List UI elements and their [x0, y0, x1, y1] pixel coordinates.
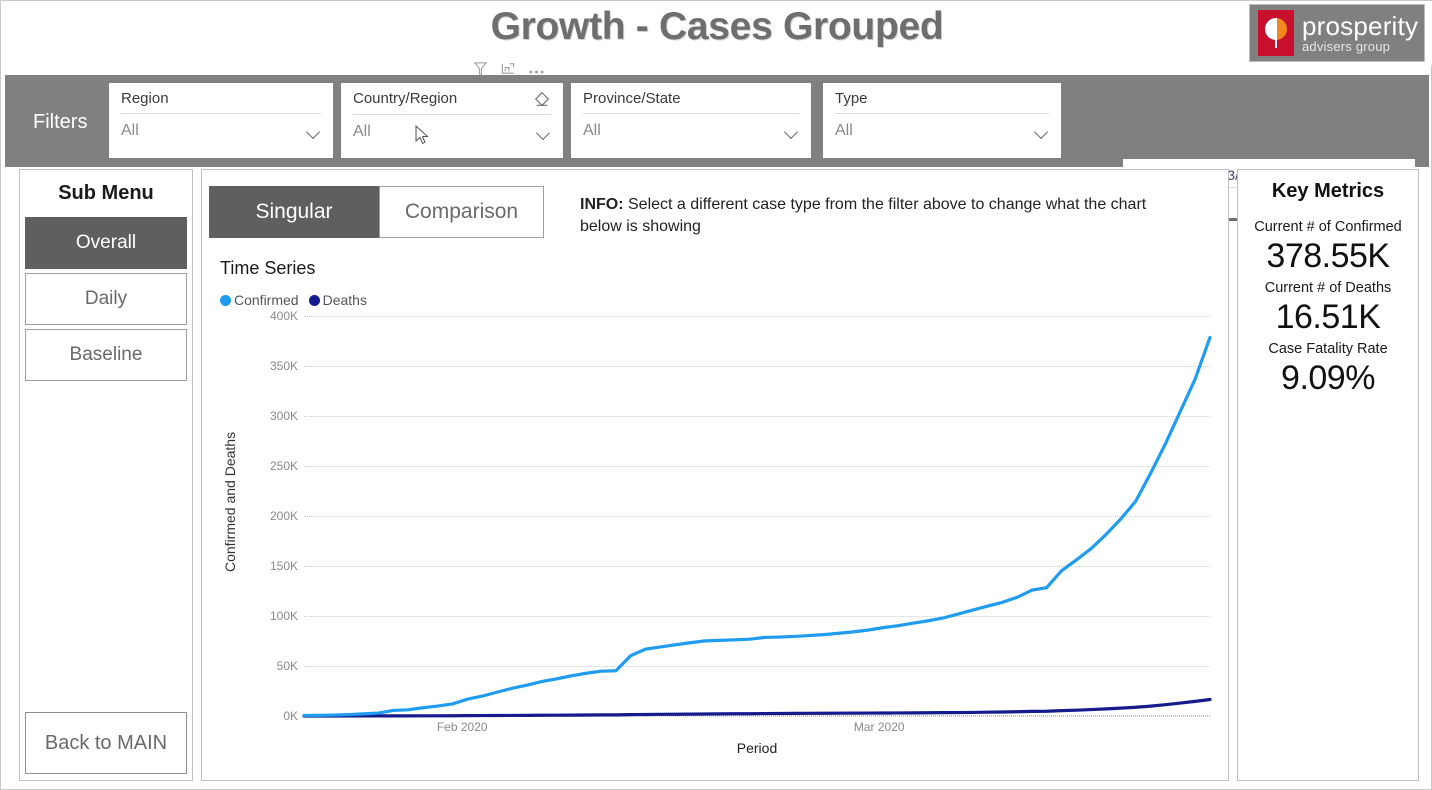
more-options-icon[interactable] [528, 62, 545, 80]
slicer-country-value: All [353, 123, 371, 141]
series-line-deaths[interactable] [304, 699, 1210, 715]
chart-title: Time Series [220, 258, 315, 279]
slicer-country-label: Country/Region [353, 90, 457, 107]
legend-swatch-deaths [309, 295, 320, 306]
logo-secondary-text: advisers group [1302, 40, 1418, 53]
y-tick-label: 400K [242, 309, 298, 323]
info-prefix: INFO: [580, 196, 624, 213]
tab-singular[interactable]: Singular [209, 186, 379, 238]
focus-mode-icon[interactable] [500, 61, 516, 81]
view-tab-group: Singular Comparison [209, 186, 544, 238]
sidebar-item-baseline[interactable]: Baseline [25, 329, 187, 381]
legend-label-confirmed: Confirmed [234, 292, 299, 308]
main-visual-panel: Singular Comparison INFO: Select a diffe… [201, 169, 1229, 781]
metric-label-cfr: Case Fatality Rate [1238, 341, 1418, 357]
slicer-type[interactable]: Type All [823, 83, 1061, 158]
logo-primary-text: prosperity [1302, 13, 1418, 39]
report-page: Growth - Cases Grouped prosperity advise… [0, 0, 1432, 790]
brand-logo: prosperity advisers group [1249, 4, 1425, 62]
sub-menu-panel: Sub Menu Overall Daily Baseline Back to … [19, 169, 193, 781]
slicer-type-label: Type [835, 90, 868, 107]
y-tick-label: 300K [242, 409, 298, 423]
metric-label-deaths: Current # of Deaths [1238, 280, 1418, 296]
metric-label-confirmed: Current # of Confirmed [1238, 219, 1418, 235]
x-tick-label: Feb 2020 [437, 720, 488, 734]
y-tick-label: 0K [242, 709, 298, 723]
filter-bar: Filters Region All Country/Region All [5, 75, 1429, 167]
slicer-region[interactable]: Region All [109, 83, 333, 158]
x-tick-label: Mar 2020 [854, 720, 905, 734]
chevron-down-icon[interactable] [1035, 127, 1049, 135]
slicer-province-state[interactable]: Province/State All [571, 83, 811, 158]
sub-menu-title: Sub Menu [25, 176, 187, 217]
report-header: Growth - Cases Grouped prosperity advise… [1, 1, 1432, 65]
chart-legend[interactable]: Confirmed Deaths [220, 292, 367, 308]
chevron-down-icon[interactable] [785, 127, 799, 135]
slicer-province-value: All [583, 122, 601, 140]
key-metrics-title: Key Metrics [1238, 180, 1418, 203]
info-message: INFO: Select a different case type from … [580, 194, 1180, 237]
chevron-down-icon[interactable] [307, 127, 321, 135]
chart-series-group [304, 316, 1210, 716]
time-series-chart[interactable]: Confirmed and Deaths 0K50K100K150K200K25… [220, 316, 1210, 761]
back-to-main-button[interactable]: Back to MAIN [25, 712, 187, 774]
chevron-down-icon[interactable] [537, 128, 551, 136]
series-line-confirmed[interactable] [304, 337, 1210, 715]
y-tick-label: 150K [242, 559, 298, 573]
tab-comparison[interactable]: Comparison [379, 186, 544, 238]
funnel-icon[interactable] [473, 61, 488, 81]
legend-item-deaths[interactable]: Deaths [309, 292, 367, 308]
mouse-cursor [415, 125, 431, 147]
key-metrics-panel: Key Metrics Current # of Confirmed 378.5… [1237, 169, 1419, 781]
y-axis-label: Confirmed and Deaths [222, 402, 240, 602]
metric-value-deaths: 16.51K [1238, 298, 1418, 337]
metric-value-confirmed: 378.55K [1238, 237, 1418, 276]
filters-label: Filters [33, 111, 87, 134]
plot-area[interactable] [304, 316, 1210, 716]
slicer-type-value: All [835, 122, 853, 140]
y-tick-label: 350K [242, 359, 298, 373]
legend-swatch-confirmed [220, 295, 231, 306]
legend-item-confirmed[interactable]: Confirmed [220, 292, 299, 308]
y-tick-label: 250K [242, 459, 298, 473]
eraser-icon[interactable] [533, 90, 551, 108]
y-tick-label: 50K [242, 659, 298, 673]
legend-label-deaths: Deaths [323, 292, 367, 308]
sidebar-item-overall[interactable]: Overall [25, 217, 187, 269]
metric-value-cfr: 9.09% [1238, 359, 1418, 398]
slicer-region-label: Region [121, 90, 169, 107]
slicer-region-value: All [121, 122, 139, 140]
info-body: Select a different case type from the fi… [580, 196, 1146, 235]
slicer-province-label: Province/State [583, 90, 681, 107]
prosperity-mark-icon [1258, 10, 1294, 56]
visual-toolbar[interactable] [473, 61, 545, 81]
y-tick-label: 200K [242, 509, 298, 523]
sidebar-item-daily[interactable]: Daily [25, 273, 187, 325]
x-axis-label: Period [304, 740, 1210, 756]
page-title: Growth - Cases Grouped [1, 5, 1432, 49]
slicer-country-region[interactable]: Country/Region All [341, 83, 563, 158]
y-tick-label: 100K [242, 609, 298, 623]
